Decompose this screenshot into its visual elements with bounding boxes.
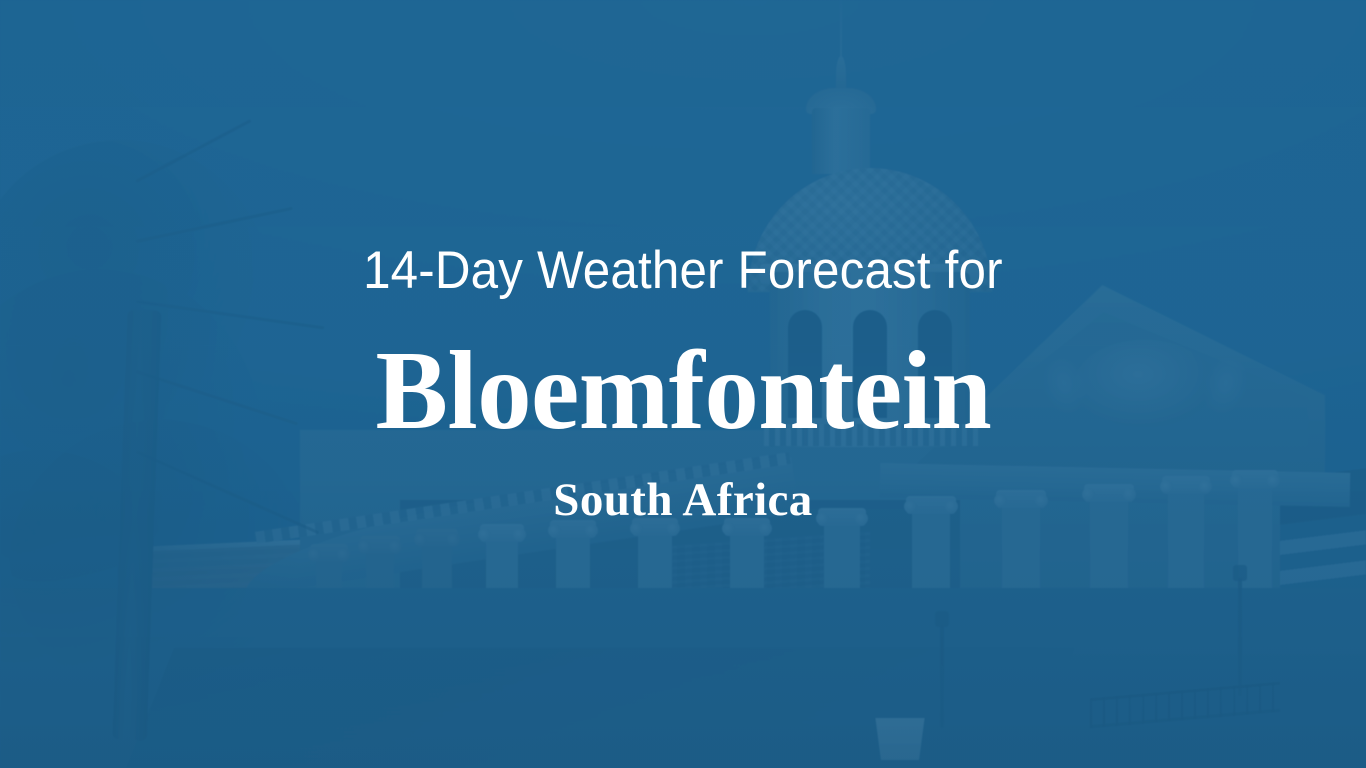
hero-title-block: 14-Day Weather Forecast for Bloemfontein… bbox=[0, 0, 1366, 768]
country-name: South Africa bbox=[553, 477, 812, 524]
forecast-headline: 14-Day Weather Forecast for bbox=[363, 244, 1003, 297]
city-name: Bloemfontein bbox=[375, 335, 991, 447]
weather-hero-banner: 14-Day Weather Forecast for Bloemfontein… bbox=[0, 0, 1366, 768]
